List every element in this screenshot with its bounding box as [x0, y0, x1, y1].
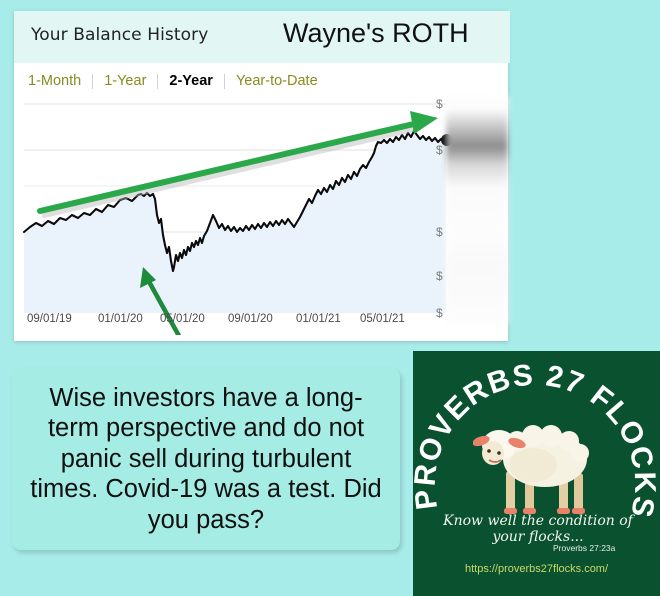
y-axis-label: $ [436, 269, 443, 283]
tab-1-month[interactable]: 1-Month [28, 73, 92, 89]
balance-chart[interactable] [14, 95, 508, 335]
y-axis-label: $ [436, 306, 443, 320]
logo-website-url[interactable]: https://proverbs27flocks.com/ [413, 563, 660, 575]
x-axis-tick-label: 09/01/20 [228, 313, 273, 325]
x-axis-tick-label: 05/01/21 [360, 313, 405, 325]
x-axis-tick-label: 01/01/21 [296, 313, 341, 325]
y-axis-label: $ [436, 225, 443, 239]
sheep-icon [473, 413, 603, 519]
account-title-overlay: Wayne's ROTH [283, 18, 469, 49]
tab-1-year[interactable]: 1-Year [93, 73, 157, 89]
callout-box: Wise investors have a long-term perspect… [12, 368, 400, 550]
logo-tagline: Know well the condition of your flocks..… [431, 514, 645, 545]
redacted-balance-values [446, 96, 508, 324]
tab-year-to-date[interactable]: Year-to-Date [225, 73, 329, 89]
x-axis-tick-label: 09/01/19 [27, 313, 72, 325]
y-axis-label: $ [436, 97, 443, 111]
y-axis-label: $ [436, 143, 443, 157]
callout-text: Wise investors have a long-term perspect… [28, 383, 384, 535]
logo-verse-reference: Proverbs 27:23a [553, 543, 615, 553]
page-title: Your Balance History [31, 25, 208, 45]
tab-2-year[interactable]: 2-Year [158, 73, 224, 89]
chart-area-fill [24, 131, 446, 312]
time-range-tabs: 1-Month 1-Year 2-Year Year-to-Date [28, 70, 329, 92]
proverbs-27-flocks-logo: PROVERBS 27 FLOCKS Know well the c [413, 351, 660, 596]
x-axis-tick-label: 01/01/20 [98, 313, 143, 325]
chart-canvas [14, 95, 508, 335]
x-axis-tick-label: 05/01/20 [160, 313, 205, 325]
